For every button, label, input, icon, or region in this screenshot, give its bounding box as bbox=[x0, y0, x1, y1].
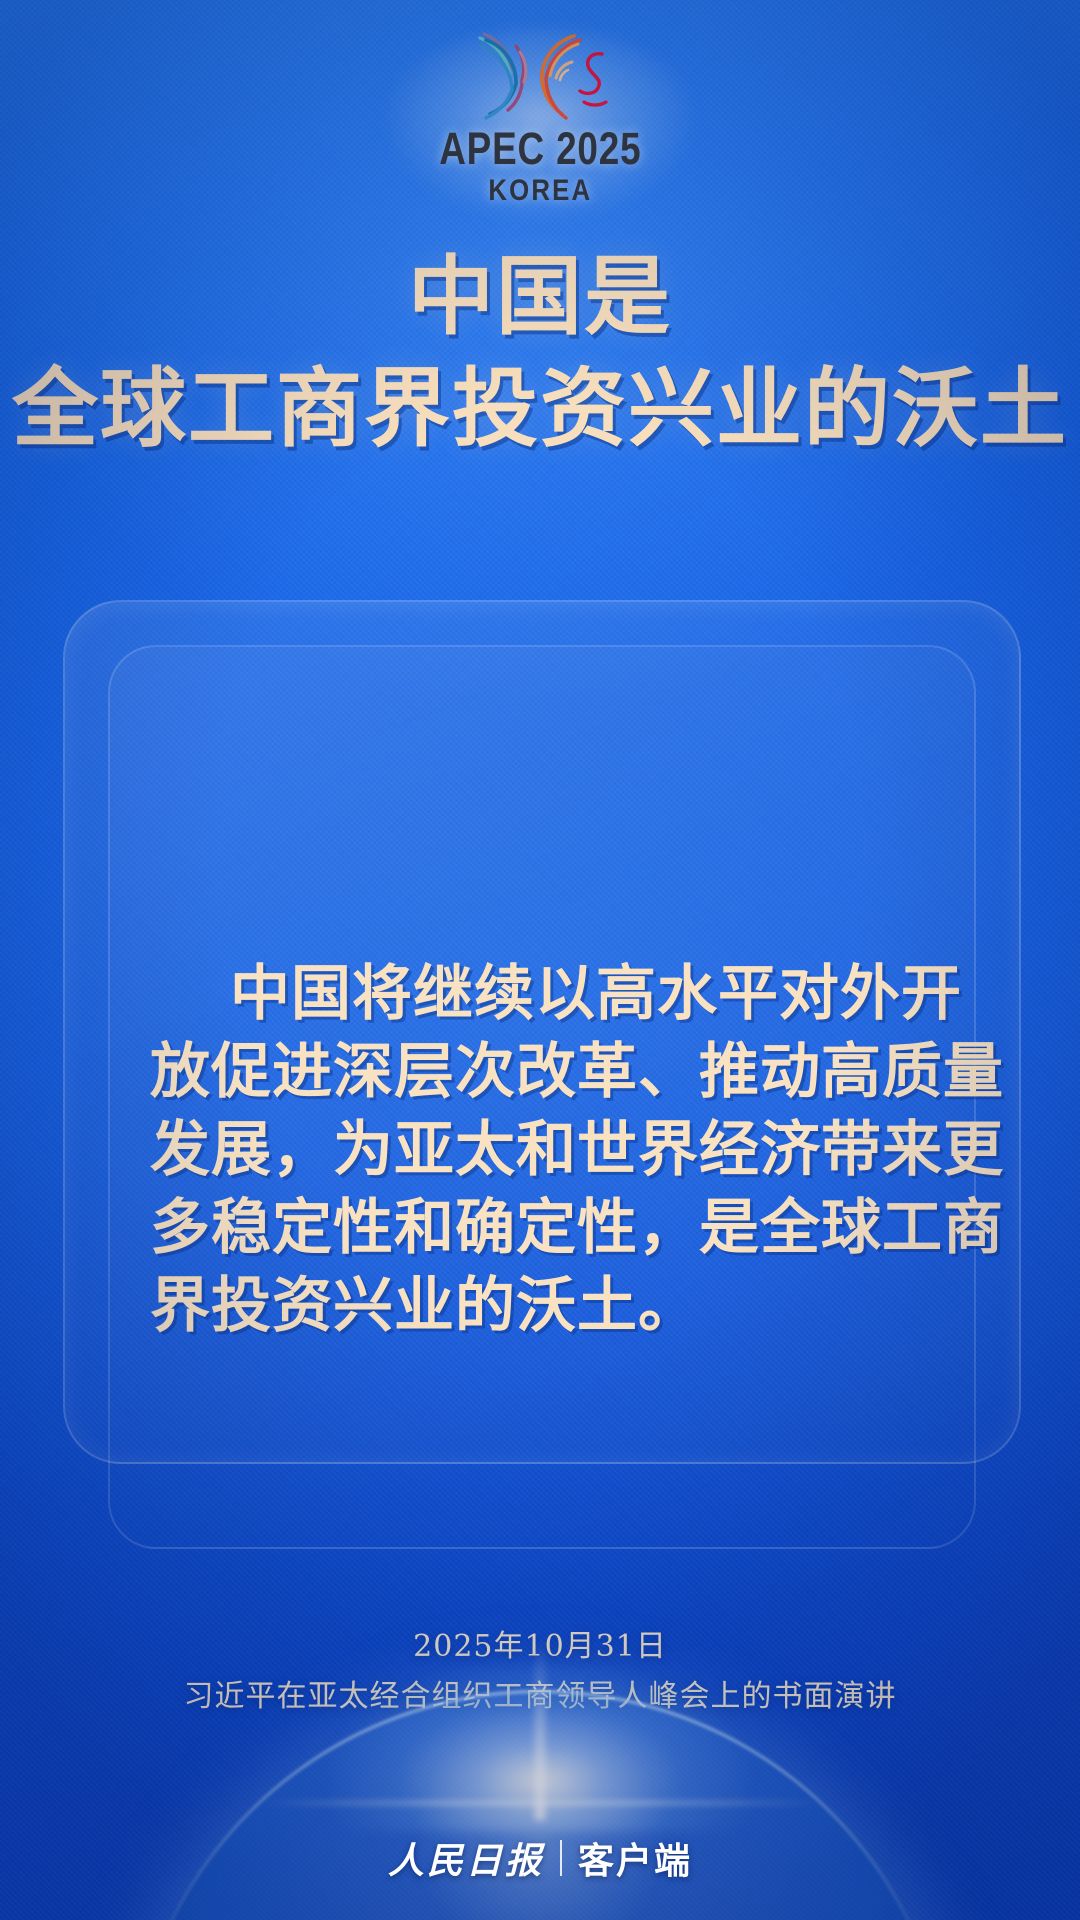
quote-body: 中国将继续以高水平对外开 放促进深层次改革、推动高质量 发展，为亚太和世界经济带… bbox=[150, 955, 936, 1345]
quote-line: 多稳定性和确定性，是全球工商 bbox=[150, 1189, 936, 1267]
quote-line: 中国将继续以高水平对外开 bbox=[150, 955, 936, 1033]
earth-horizontal-flare bbox=[260, 1800, 820, 1806]
quote-line: 放促进深层次改革、推动高质量 bbox=[150, 1033, 936, 1111]
earth-rim-light bbox=[130, 1690, 950, 1920]
apec-2025-korea-logo: APEC 2025 KOREA bbox=[0, 18, 1080, 218]
logo-subtitle: KOREA bbox=[434, 176, 646, 206]
logo-title: APEC 2025 bbox=[439, 126, 641, 171]
quote-line: 界投资兴业的沃土。 bbox=[150, 1267, 936, 1345]
headline-line-2: 全球工商界投资兴业的沃土 bbox=[0, 360, 1080, 460]
headline-line-1: 中国是 bbox=[0, 248, 1080, 348]
attribution-date: 2025年10月31日 bbox=[0, 1625, 1080, 1669]
apec-arcs-mark bbox=[450, 18, 630, 122]
page-title: 中国是 全球工商界投资兴业的沃土 bbox=[0, 248, 1080, 460]
footer-divider bbox=[560, 1840, 562, 1876]
peoples-daily-logo: 人民日报 bbox=[388, 1832, 544, 1884]
quote-line: 发展，为亚太和世界经济带来更 bbox=[150, 1111, 936, 1189]
logo-wordmark: APEC 2025 KOREA bbox=[417, 126, 664, 206]
poster-canvas: APEC 2025 KOREA 中国是 全球工商界投资兴业的沃土 中国将继续以高… bbox=[0, 0, 1080, 1920]
app-name-label: 客户端 bbox=[578, 1832, 692, 1884]
earth-sphere bbox=[130, 1690, 950, 1920]
attribution: 2025年10月31日 习近平在亚太经合组织工商领导人峰会上的书面演讲 bbox=[0, 1625, 1080, 1721]
footer-branding: 人民日报 客户端 bbox=[0, 1832, 1080, 1884]
attribution-source: 习近平在亚太经合组织工商领导人峰会上的书面演讲 bbox=[0, 1673, 1080, 1721]
